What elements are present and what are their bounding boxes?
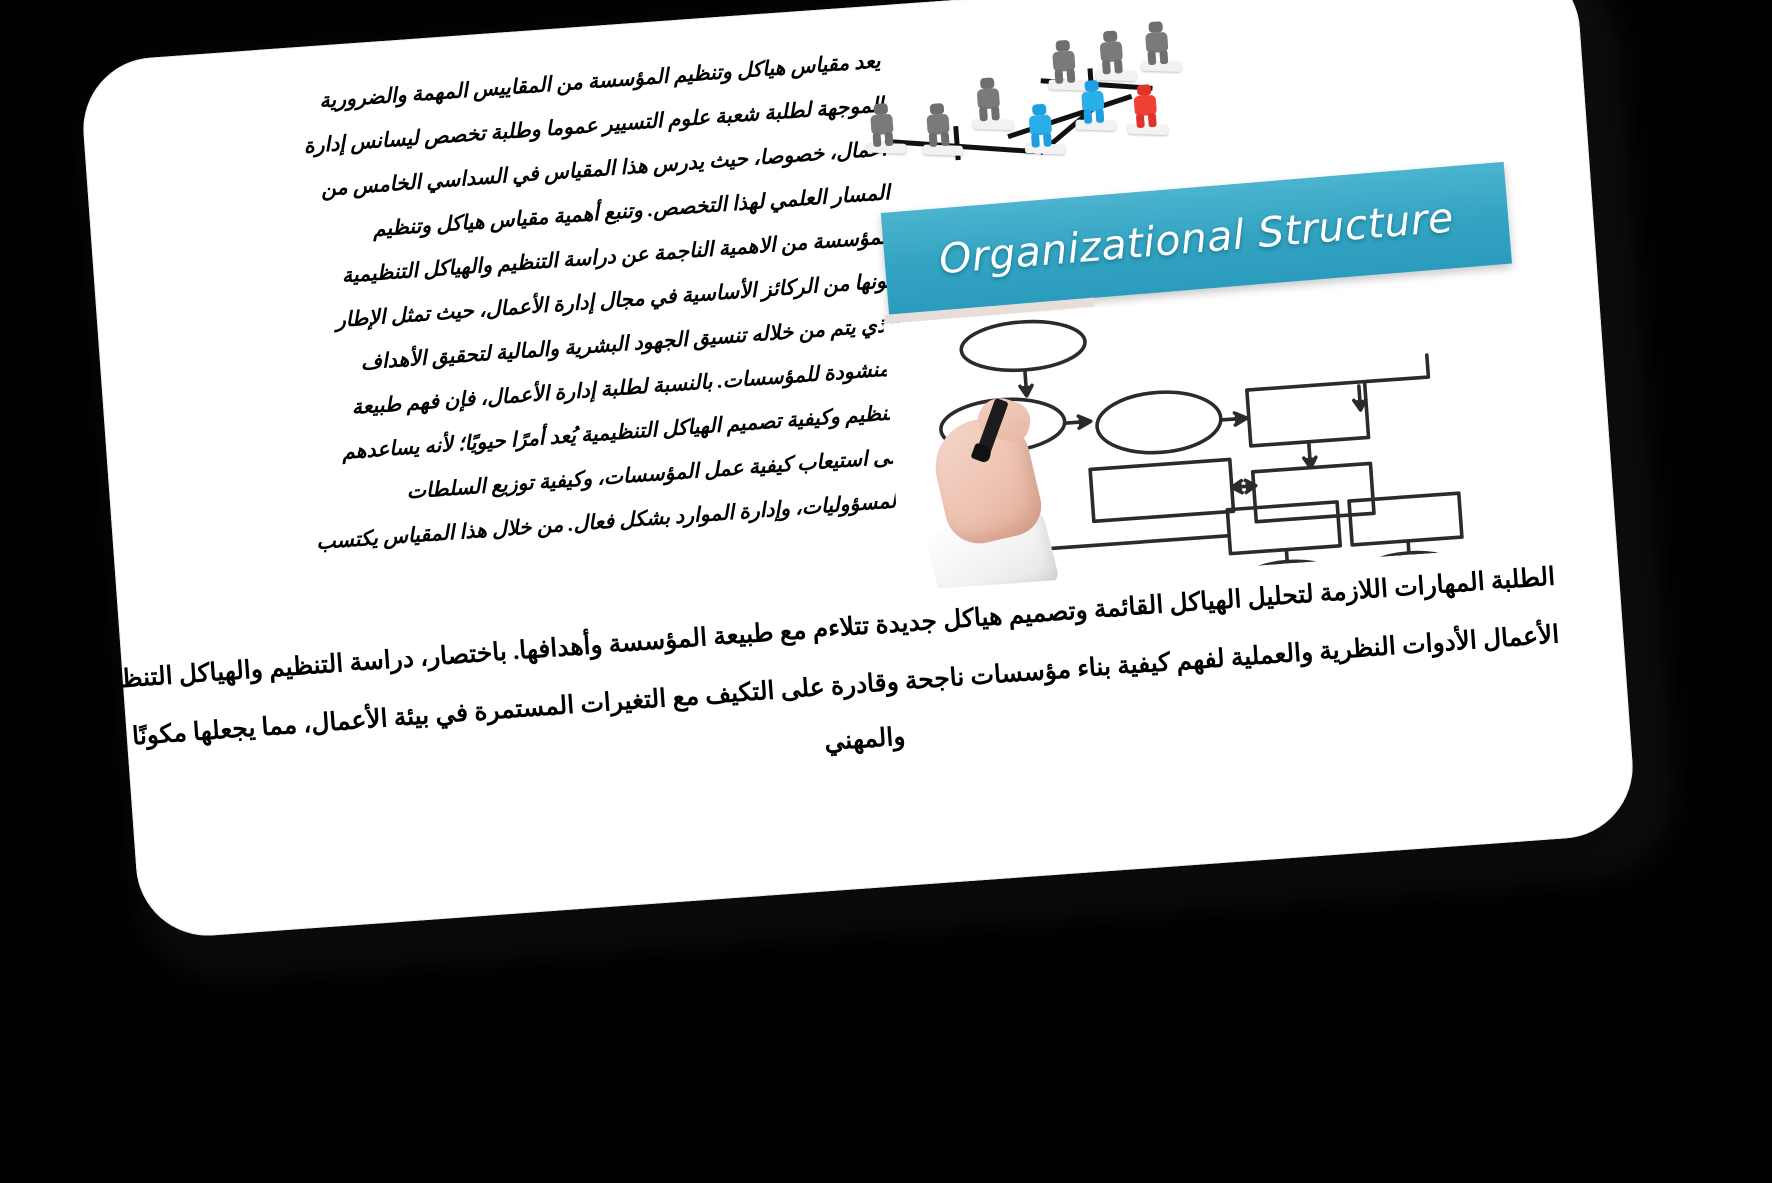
document-card: يعد مقياس هياكل وتنظيم المؤسسة من المقاي… (78, 0, 1637, 940)
person-leg-icon (1095, 109, 1104, 124)
person-leg-icon (1114, 59, 1123, 74)
flowchart-rect-bottom-left (1227, 502, 1340, 554)
org-chart-person (867, 103, 896, 149)
person-leg-icon (1054, 69, 1063, 84)
arabic-text-column: يعد مقياس هياكل وتنظيم المؤسسة من المقاي… (141, 39, 914, 575)
flowchart-arrowhead-7 (1354, 400, 1367, 411)
org-chart-person (1049, 39, 1078, 85)
flowchart-ellipse-top (960, 318, 1087, 375)
org-chart-person-highlight-blue (1026, 103, 1055, 149)
org-chart-person-highlight-blue (1078, 79, 1107, 125)
person-leg-icon (1043, 132, 1052, 147)
person-leg-icon (1102, 60, 1111, 75)
flowchart-arrow-down-5 (1408, 541, 1409, 553)
flowchart-ellipse-middle (1095, 388, 1223, 457)
org-chart-person (1097, 30, 1126, 76)
person-leg-icon (884, 132, 893, 147)
flowchart-arrow-down-4 (1286, 550, 1287, 562)
flowchart-rect-mid-left (1090, 459, 1233, 521)
flowchart-whiteboard (883, 276, 1568, 591)
org-chart-person (974, 77, 1003, 123)
illustration-group: Organizational Structure (838, 0, 1576, 593)
flowchart-arrowhead-3 (1234, 412, 1247, 425)
flowchart-rect-right-lower (1349, 493, 1462, 545)
person-leg-icon (1083, 109, 1092, 124)
person-leg-icon (929, 133, 938, 148)
flowchart-rect-right-upper (1253, 463, 1374, 521)
flowchart-entry-line (1365, 355, 1428, 381)
org-chart-person (924, 103, 953, 149)
person-leg-icon (1159, 50, 1168, 65)
arabic-wide-paragraph: الطلبة المهارات اللازمة لتحليل الهياكل ا… (157, 549, 1565, 805)
flowchart-rect-top-right (1247, 382, 1369, 446)
person-leg-icon (1136, 114, 1145, 129)
person-leg-icon (979, 107, 988, 122)
person-leg-icon (1148, 113, 1157, 128)
person-leg-icon (1031, 133, 1040, 148)
page-canvas: يعد مقياس هياكل وتنظيم المؤسسة من المقاي… (0, 0, 1772, 1183)
org-chart-figures (848, 8, 1218, 183)
person-leg-icon (941, 132, 950, 147)
org-chart-person-highlight-red (1131, 84, 1160, 130)
person-leg-icon (1147, 51, 1156, 66)
person-leg-icon (1066, 69, 1075, 84)
org-chart-person (1142, 21, 1171, 67)
hand-with-marker (916, 372, 1101, 592)
person-leg-icon (873, 133, 882, 148)
person-leg-icon (991, 106, 1000, 121)
